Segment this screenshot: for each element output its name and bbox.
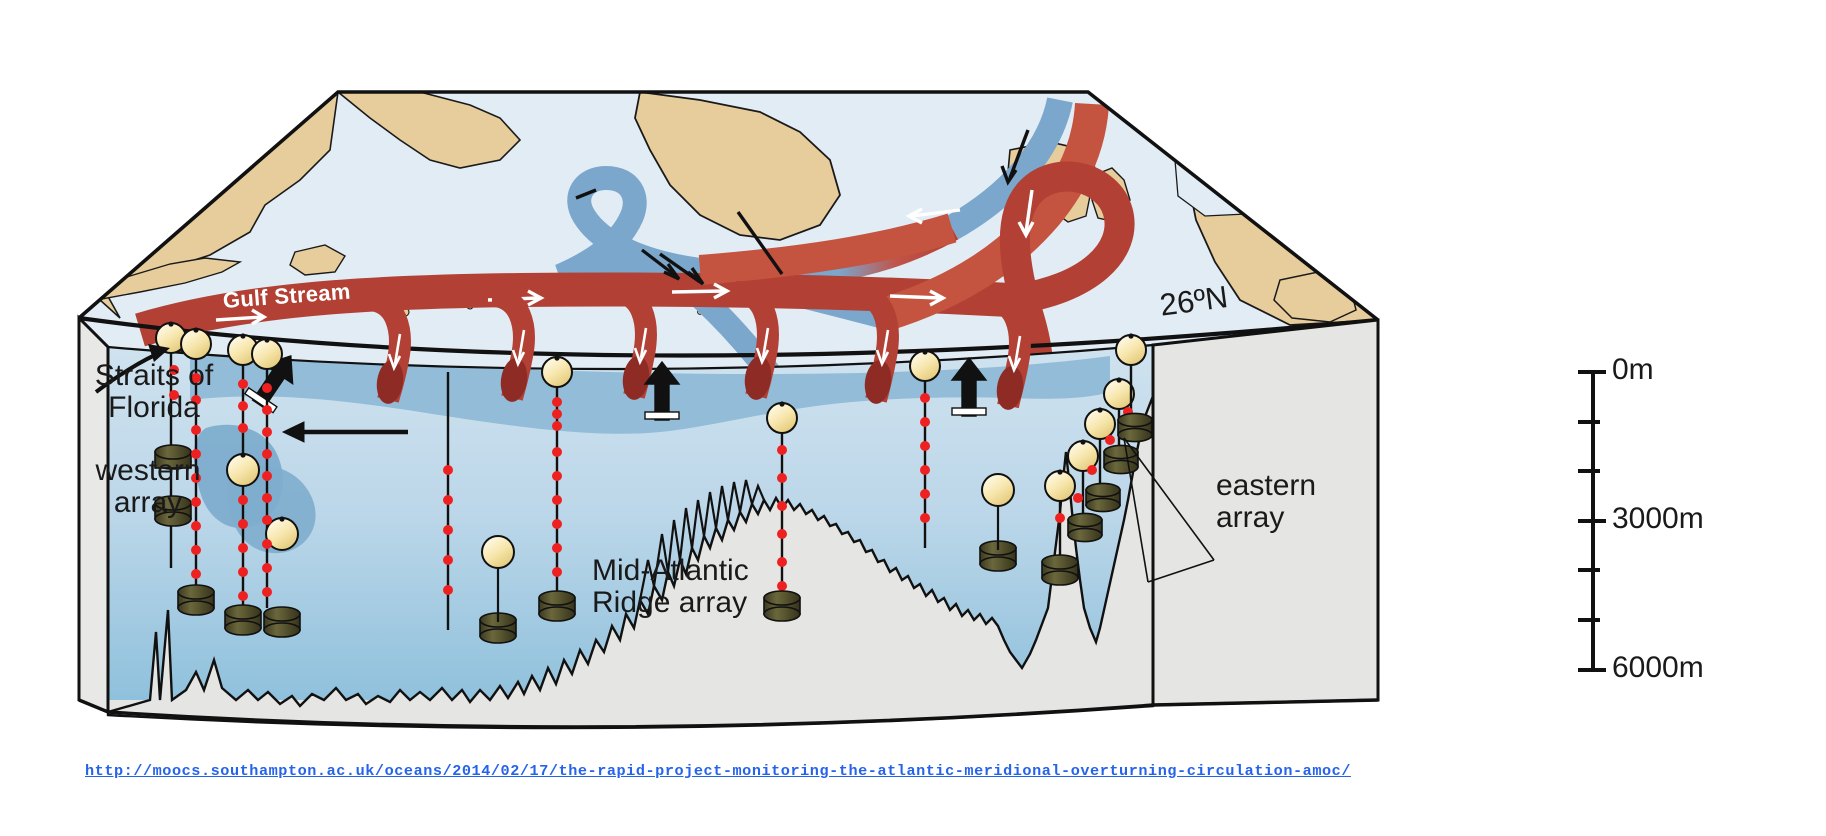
amoc-schematic-svg: [0, 0, 1826, 836]
source-url-link[interactable]: http://moocs.southampton.ac.uk/oceans/20…: [85, 762, 1351, 780]
depth-tick-label-0m: 0m: [1612, 354, 1654, 386]
depth-tick-label-6000m: 6000m: [1612, 652, 1704, 684]
figure-canvas: Gulf Stream Straits of Florida western a…: [0, 0, 1826, 836]
island-small-3: [1155, 115, 1165, 125]
western-array-label: western array: [78, 455, 218, 518]
depth-tick-label-3000m: 3000m: [1612, 503, 1704, 535]
eastern-array-label: eastern array: [1216, 470, 1376, 533]
mid-atlantic-ridge-array-label: Mid-Atlantic Ridge array: [592, 555, 802, 618]
straits-of-florida-label: Straits of Florida: [74, 360, 234, 423]
depth-axis: [1578, 372, 1606, 672]
